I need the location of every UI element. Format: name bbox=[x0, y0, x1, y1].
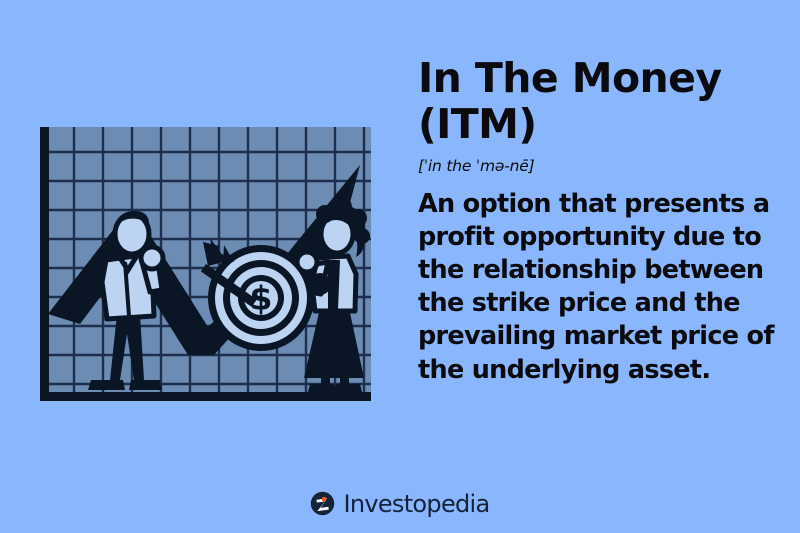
brand-name: Investopedia bbox=[343, 492, 489, 516]
pronunciation: [ˈin the ˈmə-nē] bbox=[418, 157, 786, 175]
definition-card: $ bbox=[0, 0, 800, 533]
page-title: In The Money (ITM) bbox=[418, 56, 786, 148]
illustration: $ bbox=[28, 112, 383, 417]
illustration-svg: $ bbox=[28, 112, 383, 417]
brand-footer: Investopedia bbox=[0, 491, 800, 516]
definition-text: An option that presents a profit opportu… bbox=[418, 188, 786, 387]
text-column: In The Money (ITM) [ˈin the ˈmə-nē] An o… bbox=[418, 56, 786, 387]
investopedia-logo-icon bbox=[310, 491, 335, 516]
